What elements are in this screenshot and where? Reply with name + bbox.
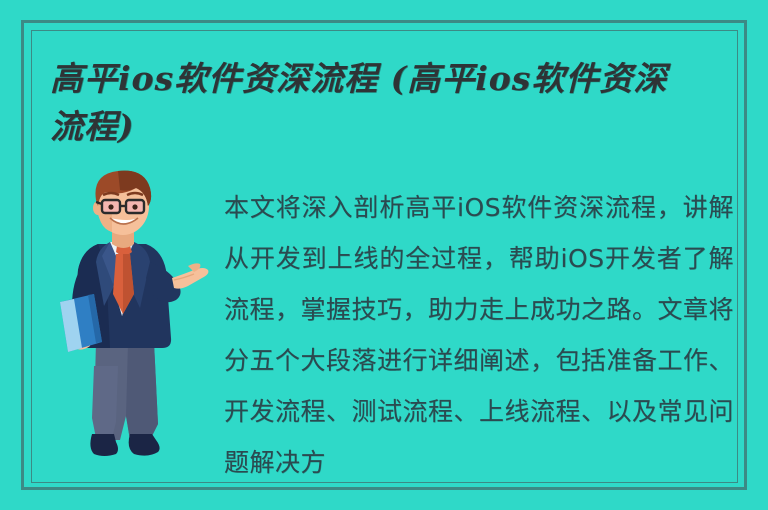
left-eye <box>108 204 113 209</box>
left-shoe <box>90 434 118 456</box>
businessman-svg <box>58 166 228 476</box>
poster-canvas: 高平ios软件资深流程 (高平ios软件资深流程) 本文将深入剖析高平iOS软件… <box>0 0 768 510</box>
page-title: 高平ios软件资深流程 (高平ios软件资深流程) <box>50 55 690 151</box>
right-eye <box>132 204 137 209</box>
left-leg <box>92 366 118 438</box>
businessman-illustration <box>58 166 228 476</box>
right-shoe <box>129 434 160 456</box>
right-hand-open-palm <box>172 268 208 289</box>
trousers-shadow <box>126 342 158 440</box>
article-summary-text: 本文将深入剖析高平iOS软件资深流程，讲解从开发到上线的全过程，帮助iOS开发者… <box>224 182 734 488</box>
